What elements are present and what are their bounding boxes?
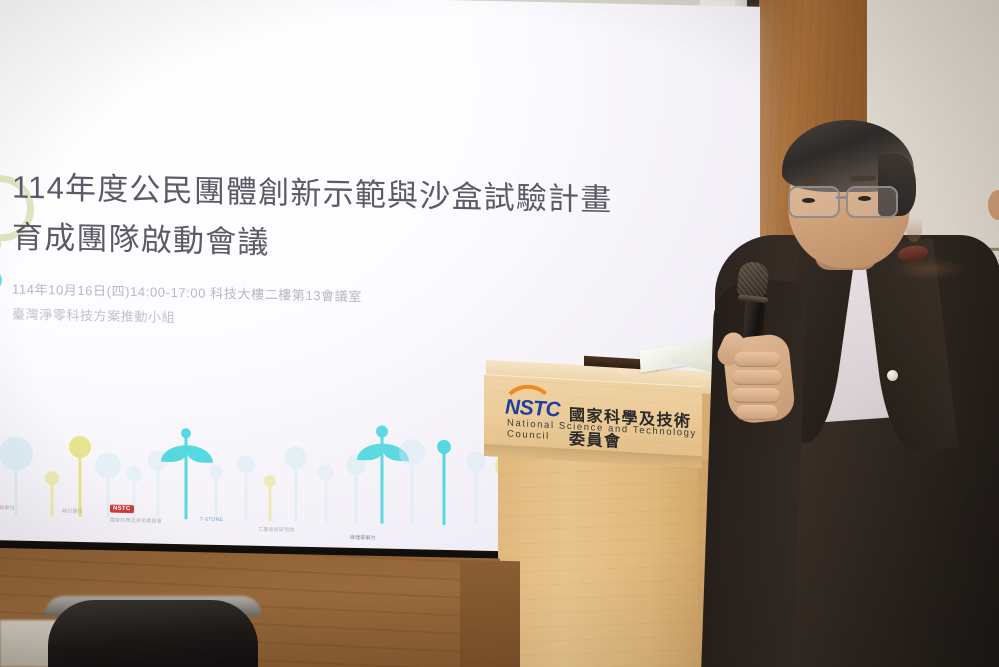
leaf-left [161, 445, 187, 463]
speaker-eye-left [802, 198, 815, 203]
tree-top [437, 440, 451, 454]
speaker-ear [988, 190, 999, 220]
sponsor-logo-itri: 工業技術研究院 [258, 526, 294, 534]
speaker-chin-shadow [892, 258, 966, 280]
leaf-left [357, 443, 383, 461]
tree-top [285, 446, 307, 468]
speaker-finger-4 [736, 405, 778, 420]
tree-top [466, 451, 486, 471]
podium-nameplate: NSTC 國家科學及技術委員會 National Science and Tec… [497, 385, 697, 454]
speaker-finger-1 [734, 352, 780, 367]
eyeglass-bridge [836, 196, 848, 199]
speaker-finger-2 [732, 370, 782, 385]
slide-organizer: 臺灣淨零科技方案推動小組 [12, 301, 612, 339]
speaker-figure [690, 120, 999, 667]
leaf-right [187, 445, 213, 463]
slide-subtitle: 114年10月16日(四)14:00-17:00 科技大樓二樓第13會議室 臺灣… [12, 276, 612, 339]
tree-top [45, 471, 59, 485]
slide-title: 114年度公民團體創新示範與沙盒試驗計畫 育成團隊啟動會議 [12, 162, 672, 276]
foreground-chair [48, 600, 258, 667]
sponsor-label-exec: 執行單位 [62, 508, 83, 515]
sponsor-nstc-cn: 國家科學及技術委員會 [110, 517, 162, 525]
tree-top [0, 436, 33, 471]
slide-title-line1: 114年度公民團體創新示範與沙盒試驗計畫 [12, 169, 612, 217]
lapel-pin-icon [887, 370, 898, 381]
photo-scene: 114年度公民團體創新示範與沙盒試驗計畫 育成團隊啟動會議 114年10月16日… [0, 0, 999, 667]
microphone-head-icon [736, 261, 770, 300]
speaker-nose [906, 216, 922, 242]
eyeglass-lens-left [788, 186, 840, 218]
tree-top [376, 425, 388, 437]
sponsor-label-host: 主辦單位 [0, 504, 15, 511]
tree-top [318, 464, 334, 480]
foreground-wood-wall-right [460, 560, 520, 667]
sponsor-logo-green: 綠建築解方 [350, 534, 376, 542]
eyeglass-lens-right [846, 186, 898, 218]
tree-top [237, 455, 255, 473]
tree-top [399, 439, 425, 466]
tree-top [209, 465, 223, 479]
sponsor-logo-tstone: T-STONE [200, 517, 223, 524]
tree-top [69, 436, 91, 458]
tree-top [264, 475, 276, 487]
speaker-eye-right [858, 196, 871, 201]
slide-datetime-venue: 114年10月16日(四)14:00-17:00 科技大樓二樓第13會議室 [12, 281, 362, 304]
sponsor-logo-nstc: NSTC [110, 505, 134, 514]
tree-top [181, 428, 191, 438]
speaker-finger-3 [732, 388, 780, 403]
